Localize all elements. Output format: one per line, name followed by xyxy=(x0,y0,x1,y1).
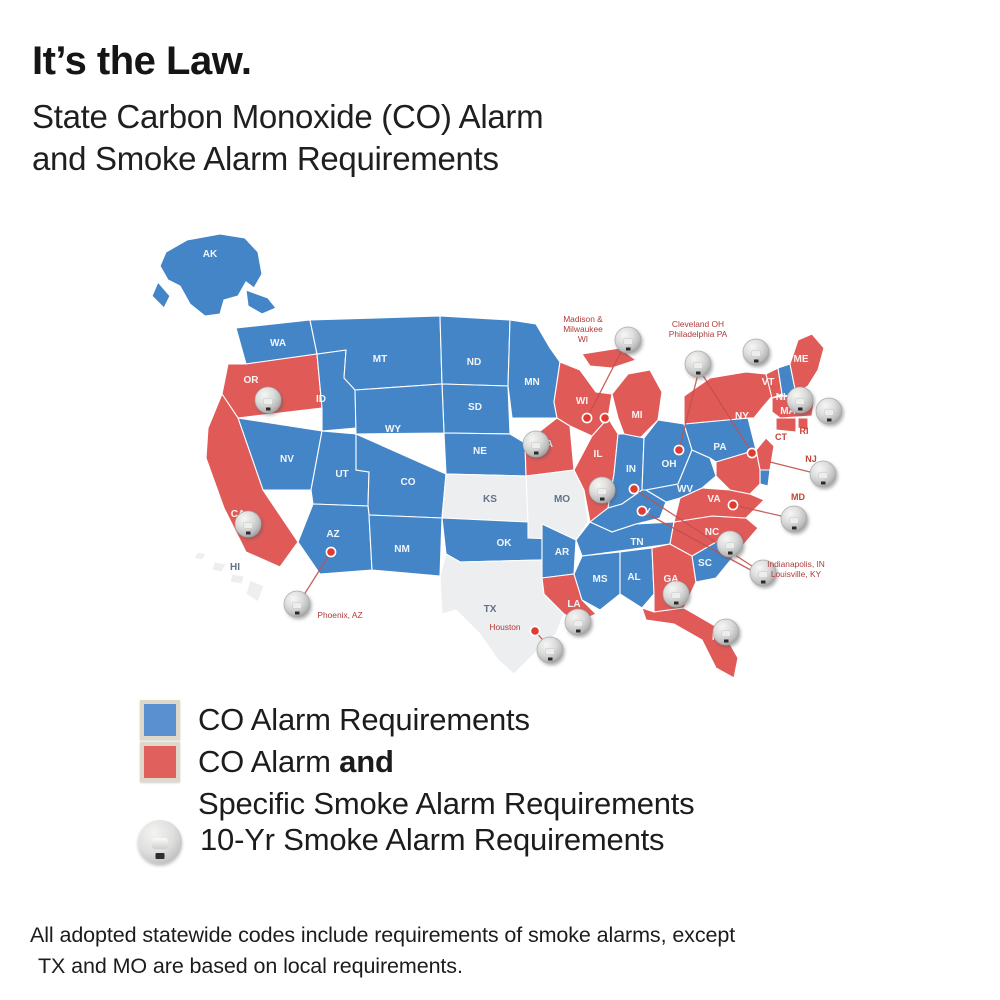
state-CO[interactable] xyxy=(356,434,446,518)
state-label-ID: ID xyxy=(316,394,326,405)
city-dot-phoenix[interactable] xyxy=(326,547,335,556)
us-choropleth-map: AKWAORIDMTNDSDMNWYNVCAUTCONEKSAZNMOKTXIA… xyxy=(150,222,850,692)
legend-swatch-blue xyxy=(140,700,180,740)
state-label-OK: OK xyxy=(497,538,513,549)
state-label-RI: RI xyxy=(800,426,809,436)
annotation-madison-milwaukee: Madison &MilwaukeeWI xyxy=(563,314,603,344)
state-OK[interactable] xyxy=(442,518,542,562)
alarm-marker-NY-callout[interactable] xyxy=(743,339,769,365)
alarm-marker-MA-callout[interactable] xyxy=(816,398,842,424)
legend-item-co-alarm: CO Alarm Requirements xyxy=(140,700,960,740)
state-label-NY: NY xyxy=(735,411,749,422)
page-title: It’s the Law. xyxy=(32,40,932,82)
city-dot-cleveland[interactable] xyxy=(674,445,683,454)
city-dot-madison[interactable] xyxy=(582,413,591,422)
alarm-marker-FL[interactable] xyxy=(713,619,739,645)
legend-label-and-bold: and xyxy=(339,744,394,779)
city-dot-indianapolis[interactable] xyxy=(629,484,638,493)
state-label-AK: AK xyxy=(203,249,218,260)
state-label-WY: WY xyxy=(385,424,401,435)
state-label-NE: NE xyxy=(473,446,487,457)
alarm-marker-CA[interactable] xyxy=(235,511,261,537)
state-label-OH: OH xyxy=(662,459,677,470)
state-label-OR: OR xyxy=(244,375,260,386)
legend-label-co-and-pre: CO Alarm xyxy=(198,744,339,779)
alarm-marker-WI-callout[interactable] xyxy=(615,327,641,353)
annotation-phoenix-az: Phoenix, AZ xyxy=(317,610,362,620)
state-label-HI: HI xyxy=(230,562,240,573)
city-dot-virginia[interactable] xyxy=(728,500,737,509)
state-label-KS: KS xyxy=(483,494,497,505)
state-label-SD: SD xyxy=(468,402,482,413)
alarm-marker-NJ-callout[interactable] xyxy=(810,461,836,487)
annotation-indianapolis-louisville: Indianapolis, INLouisville, KY xyxy=(767,559,825,579)
state-AK[interactable] xyxy=(152,234,276,316)
legend-item-co-and-smoke: CO Alarm and xyxy=(140,742,960,782)
state-label-SC: SC xyxy=(698,558,712,569)
annotation-cleveland-philadelphia: Cleveland OHPhiladelphia PA xyxy=(669,319,728,339)
state-label-WA: WA xyxy=(270,338,286,349)
state-label-CO: CO xyxy=(401,477,416,488)
map-svg: AKWAORIDMTNDSDMNWYNVCAUTCONEKSAZNMOKTXIA… xyxy=(150,222,850,692)
alarm-marker-TX-callout[interactable] xyxy=(537,637,563,663)
legend-label-co-and: CO Alarm and xyxy=(198,742,394,782)
state-label-ME: ME xyxy=(794,354,809,365)
state-label-MO: MO xyxy=(554,494,570,505)
state-label-MT: MT xyxy=(373,354,387,365)
state-label-IL: IL xyxy=(594,449,603,460)
alarm-marker-AZ-callout[interactable] xyxy=(284,591,310,617)
state-label-MI: MI xyxy=(631,410,642,421)
legend-label-co-alarm: CO Alarm Requirements xyxy=(198,700,530,740)
state-ND[interactable] xyxy=(440,316,510,386)
alarm-marker-NC[interactable] xyxy=(717,531,743,557)
alarm-marker-LA[interactable] xyxy=(565,609,591,635)
state-label-LA: LA xyxy=(567,599,580,610)
state-MN[interactable] xyxy=(508,320,560,418)
page-subtitle: State Carbon Monoxide (CO) Alarm and Smo… xyxy=(32,96,932,180)
state-label-DE: DE xyxy=(771,474,785,485)
infographic-poster: It’s the Law. State Carbon Monoxide (CO)… xyxy=(0,0,1000,1000)
legend-label-10yr: 10-Yr Smoke Alarm Requirements xyxy=(200,820,664,860)
state-label-AZ: AZ xyxy=(326,529,339,540)
state-HI[interactable] xyxy=(194,552,264,602)
footnote-line-1: All adopted statewide codes include requ… xyxy=(30,920,960,951)
state-label-AL: AL xyxy=(627,572,640,583)
state-label-AR: AR xyxy=(555,547,570,558)
alarm-marker-OR[interactable] xyxy=(255,387,281,413)
city-dot-louisville[interactable] xyxy=(637,506,646,515)
state-label-NM: NM xyxy=(394,544,410,555)
state-label-IN: IN xyxy=(626,464,636,475)
alarm-marker-GA[interactable] xyxy=(663,581,689,607)
alarm-marker-OH-callout[interactable] xyxy=(685,351,711,377)
state-label-NJ: NJ xyxy=(805,454,817,464)
footnote: All adopted statewide codes include requ… xyxy=(30,920,960,981)
state-CT[interactable] xyxy=(776,418,796,432)
state-label-PA: PA xyxy=(713,442,726,453)
state-label-UT: UT xyxy=(335,469,348,480)
footnote-line-2: TX and MO are based on local requirement… xyxy=(30,951,960,982)
state-label-VA: VA xyxy=(707,494,720,505)
legend-item-10yr: 10-Yr Smoke Alarm Requirements xyxy=(140,820,960,864)
alarm-marker-PA-callout[interactable] xyxy=(787,387,813,413)
state-label-TN: TN xyxy=(630,537,643,548)
state-label-TX: TX xyxy=(484,604,497,615)
state-label-WV: WV xyxy=(677,484,693,495)
alarm-marker-MD-callout[interactable] xyxy=(781,506,807,532)
subtitle-line-1: State Carbon Monoxide (CO) Alarm xyxy=(32,96,932,138)
state-label-VT: VT xyxy=(762,377,775,388)
alarm-marker-IL[interactable] xyxy=(589,477,615,503)
city-dot-milwaukee[interactable] xyxy=(600,413,609,422)
state-label-NV: NV xyxy=(280,454,294,465)
title-block: It’s the Law. State Carbon Monoxide (CO)… xyxy=(32,40,932,180)
legend-swatch-red xyxy=(140,742,180,782)
alarm-marker-IA[interactable] xyxy=(523,431,549,457)
legend-label-specific-smoke: Specific Smoke Alarm Requirements xyxy=(198,784,960,824)
state-label-ND: ND xyxy=(467,357,481,368)
state-label-WI: WI xyxy=(576,396,588,407)
state-label-MN: MN xyxy=(524,377,540,388)
city-dot-philadelphia[interactable] xyxy=(747,448,756,457)
annotation-houston-tx: Houston xyxy=(489,622,521,632)
state-label-MD: MD xyxy=(791,492,805,502)
state-label-CT: CT xyxy=(775,432,787,442)
state-DE[interactable] xyxy=(760,470,770,486)
map-legend: CO Alarm Requirements CO Alarm and Speci… xyxy=(140,700,960,866)
subtitle-line-2: and Smoke Alarm Requirements xyxy=(32,138,932,180)
state-label-MS: MS xyxy=(593,574,608,585)
smoke-alarm-icon xyxy=(138,820,182,864)
city-dot-houston[interactable] xyxy=(530,626,539,635)
